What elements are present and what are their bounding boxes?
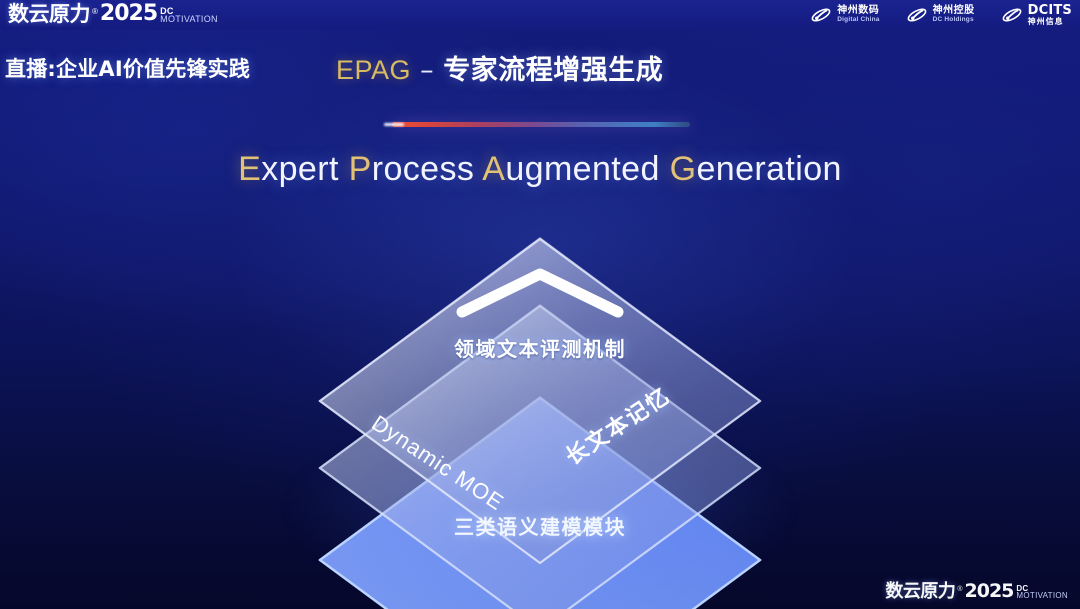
diagram-label-bottom: 三类语义建模模块 bbox=[0, 511, 1080, 540]
slide-canvas: 数云原力 ® 2025 DC MOTIVATION 神州数码 bbox=[0, 0, 1080, 609]
watermark-motivation-label: MOTIVATION bbox=[1016, 592, 1068, 600]
watermark-year: 2025 bbox=[965, 582, 1014, 601]
diagram-label-top: 领域文本评测机制 bbox=[0, 333, 1080, 362]
watermark-name-cn: 数云原力 bbox=[885, 583, 955, 601]
chevron-up-icon bbox=[452, 262, 628, 322]
layer-stack-diagram: 领域文本评测机制 Dynamic MOE 长文本记忆 三类语义建模模块 bbox=[0, 0, 1080, 609]
watermark-registered-mark: ® bbox=[957, 586, 962, 593]
brand-watermark: 数云原力 ® 2025 DC MOTIVATION bbox=[885, 582, 1068, 601]
watermark-dc-motivation: DC MOTIVATION bbox=[1016, 585, 1068, 600]
